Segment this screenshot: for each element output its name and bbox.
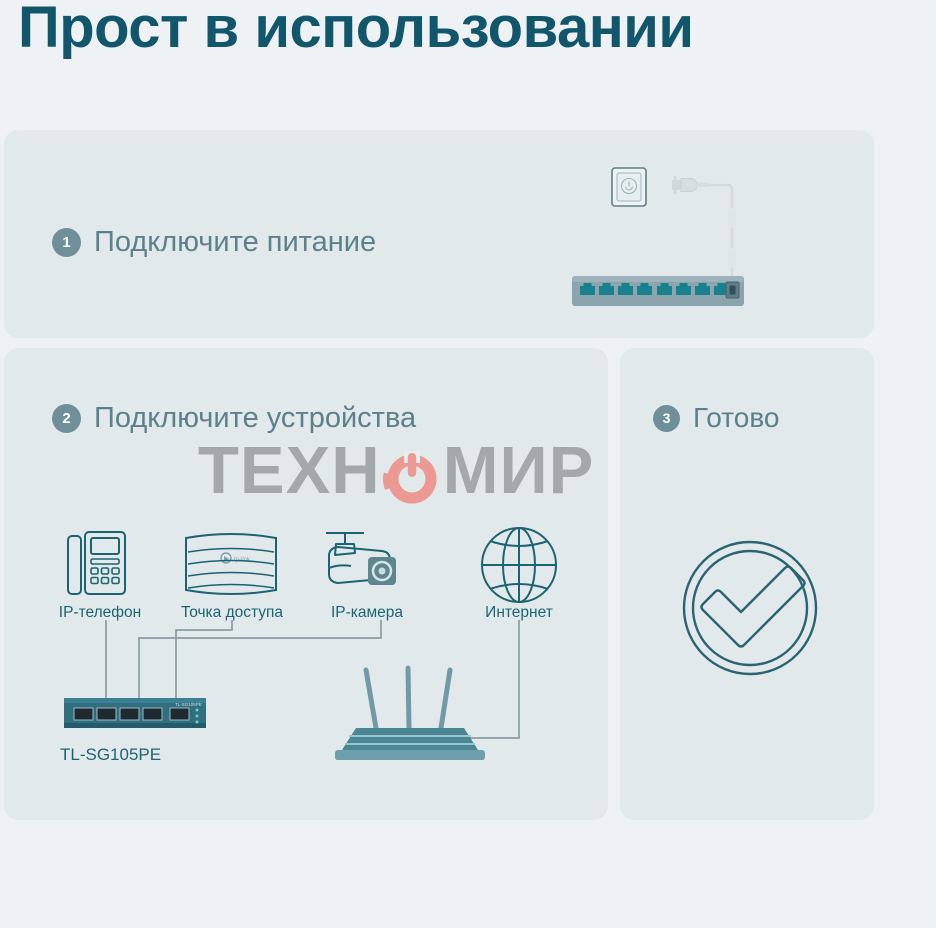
network-switch-8port-icon — [572, 276, 744, 306]
access-point-icon — [186, 534, 276, 594]
devices-wiring-illustration: tp-link — [36, 520, 592, 770]
step-2-label: Подключите устройства — [94, 402, 416, 435]
ip-phone-icon — [68, 532, 125, 594]
power-connection-illustration — [560, 150, 760, 310]
wifi-router-icon — [335, 668, 485, 760]
ip-camera-lens — [368, 557, 396, 585]
svg-text:tp-link: tp-link — [234, 557, 251, 563]
svg-text:TL-SG105PE: TL-SG105PE — [175, 702, 202, 707]
power-plug-icon — [672, 176, 708, 194]
device-label-access-point: Точка доступа — [168, 604, 296, 622]
step-3-badge: 3 — [653, 405, 680, 432]
step-1-header: 1 Подключите питание — [52, 226, 376, 259]
wall-outlet-icon — [612, 168, 646, 206]
access-point-logo: tp-link — [221, 553, 251, 563]
device-label-ip-camera: IP-камера — [315, 604, 419, 622]
device-label-ip-phone: IP-телефон — [46, 604, 154, 622]
globe-icon — [482, 528, 556, 602]
step-2-header: 2 Подключите устройства — [52, 402, 416, 435]
check-circle-icon — [662, 520, 842, 700]
step-3-label: Готово — [693, 402, 779, 434]
promo-page: Прост в использовании 1 Подключите питан… — [0, 0, 936, 928]
page-title: Прост в использовании — [18, 0, 694, 61]
tl-sg105pe-switch-icon: TL-SG105PE — [64, 698, 206, 728]
switch-model-label: TL-SG105PE — [60, 745, 161, 765]
step-2-badge: 2 — [52, 404, 81, 433]
step-1-label: Подключите питание — [94, 226, 376, 259]
device-label-internet: Интернет — [466, 604, 572, 622]
step-1-badge: 1 — [52, 228, 81, 257]
step-3-header: 3 Готово — [653, 402, 779, 434]
